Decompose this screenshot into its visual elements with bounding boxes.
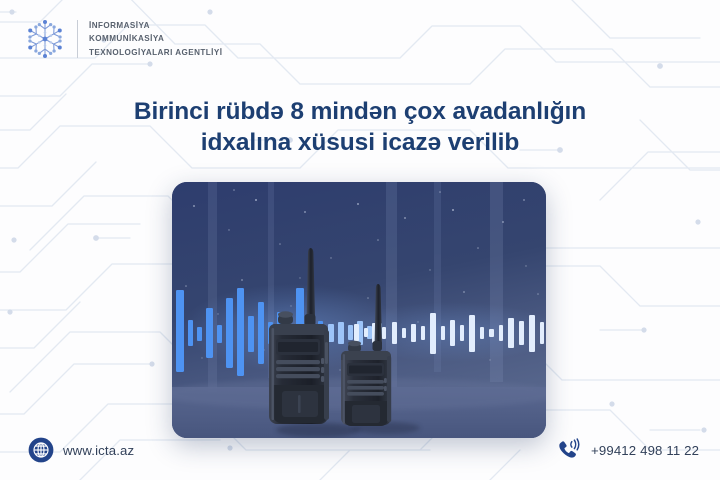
walkie-talkie-photo <box>172 182 546 438</box>
globe-icon <box>28 437 54 463</box>
brand-line-3: TEXNOLOGİYALARI AGENTLİYİ <box>89 46 222 59</box>
hero-image-card <box>172 182 546 438</box>
headline-line-1: Birinci rübdə 8 mindən çox avadanlığın <box>60 96 660 127</box>
brand-header: İNFORMASİYA KOMMUNİKASİYA TEXNOLOGİYALAR… <box>22 16 222 62</box>
phone-number: +99412 498 11 22 <box>591 443 699 458</box>
poster-canvas: İNFORMASİYA KOMMUNİKASİYA TEXNOLOGİYALAR… <box>0 0 720 480</box>
footer-website[interactable]: www.icta.az <box>28 437 134 463</box>
website-url: www.icta.az <box>63 443 134 458</box>
headline-line-2: idxalına xüsusi icazə verilib <box>60 127 660 158</box>
brand-line-1: İNFORMASİYA <box>89 19 222 32</box>
brand-line-2: KOMMUNİKASİYA <box>89 32 222 45</box>
snowflake-network-icon <box>22 16 68 62</box>
phone-ringing-icon <box>556 437 582 463</box>
brand-name-block: İNFORMASİYA KOMMUNİKASİYA TEXNOLOGİYALAR… <box>89 19 222 59</box>
footer-phone[interactable]: +99412 498 11 22 <box>556 437 699 463</box>
brand-divider <box>77 20 78 58</box>
page-title: Birinci rübdə 8 mindən çox avadanlığın i… <box>60 96 660 158</box>
